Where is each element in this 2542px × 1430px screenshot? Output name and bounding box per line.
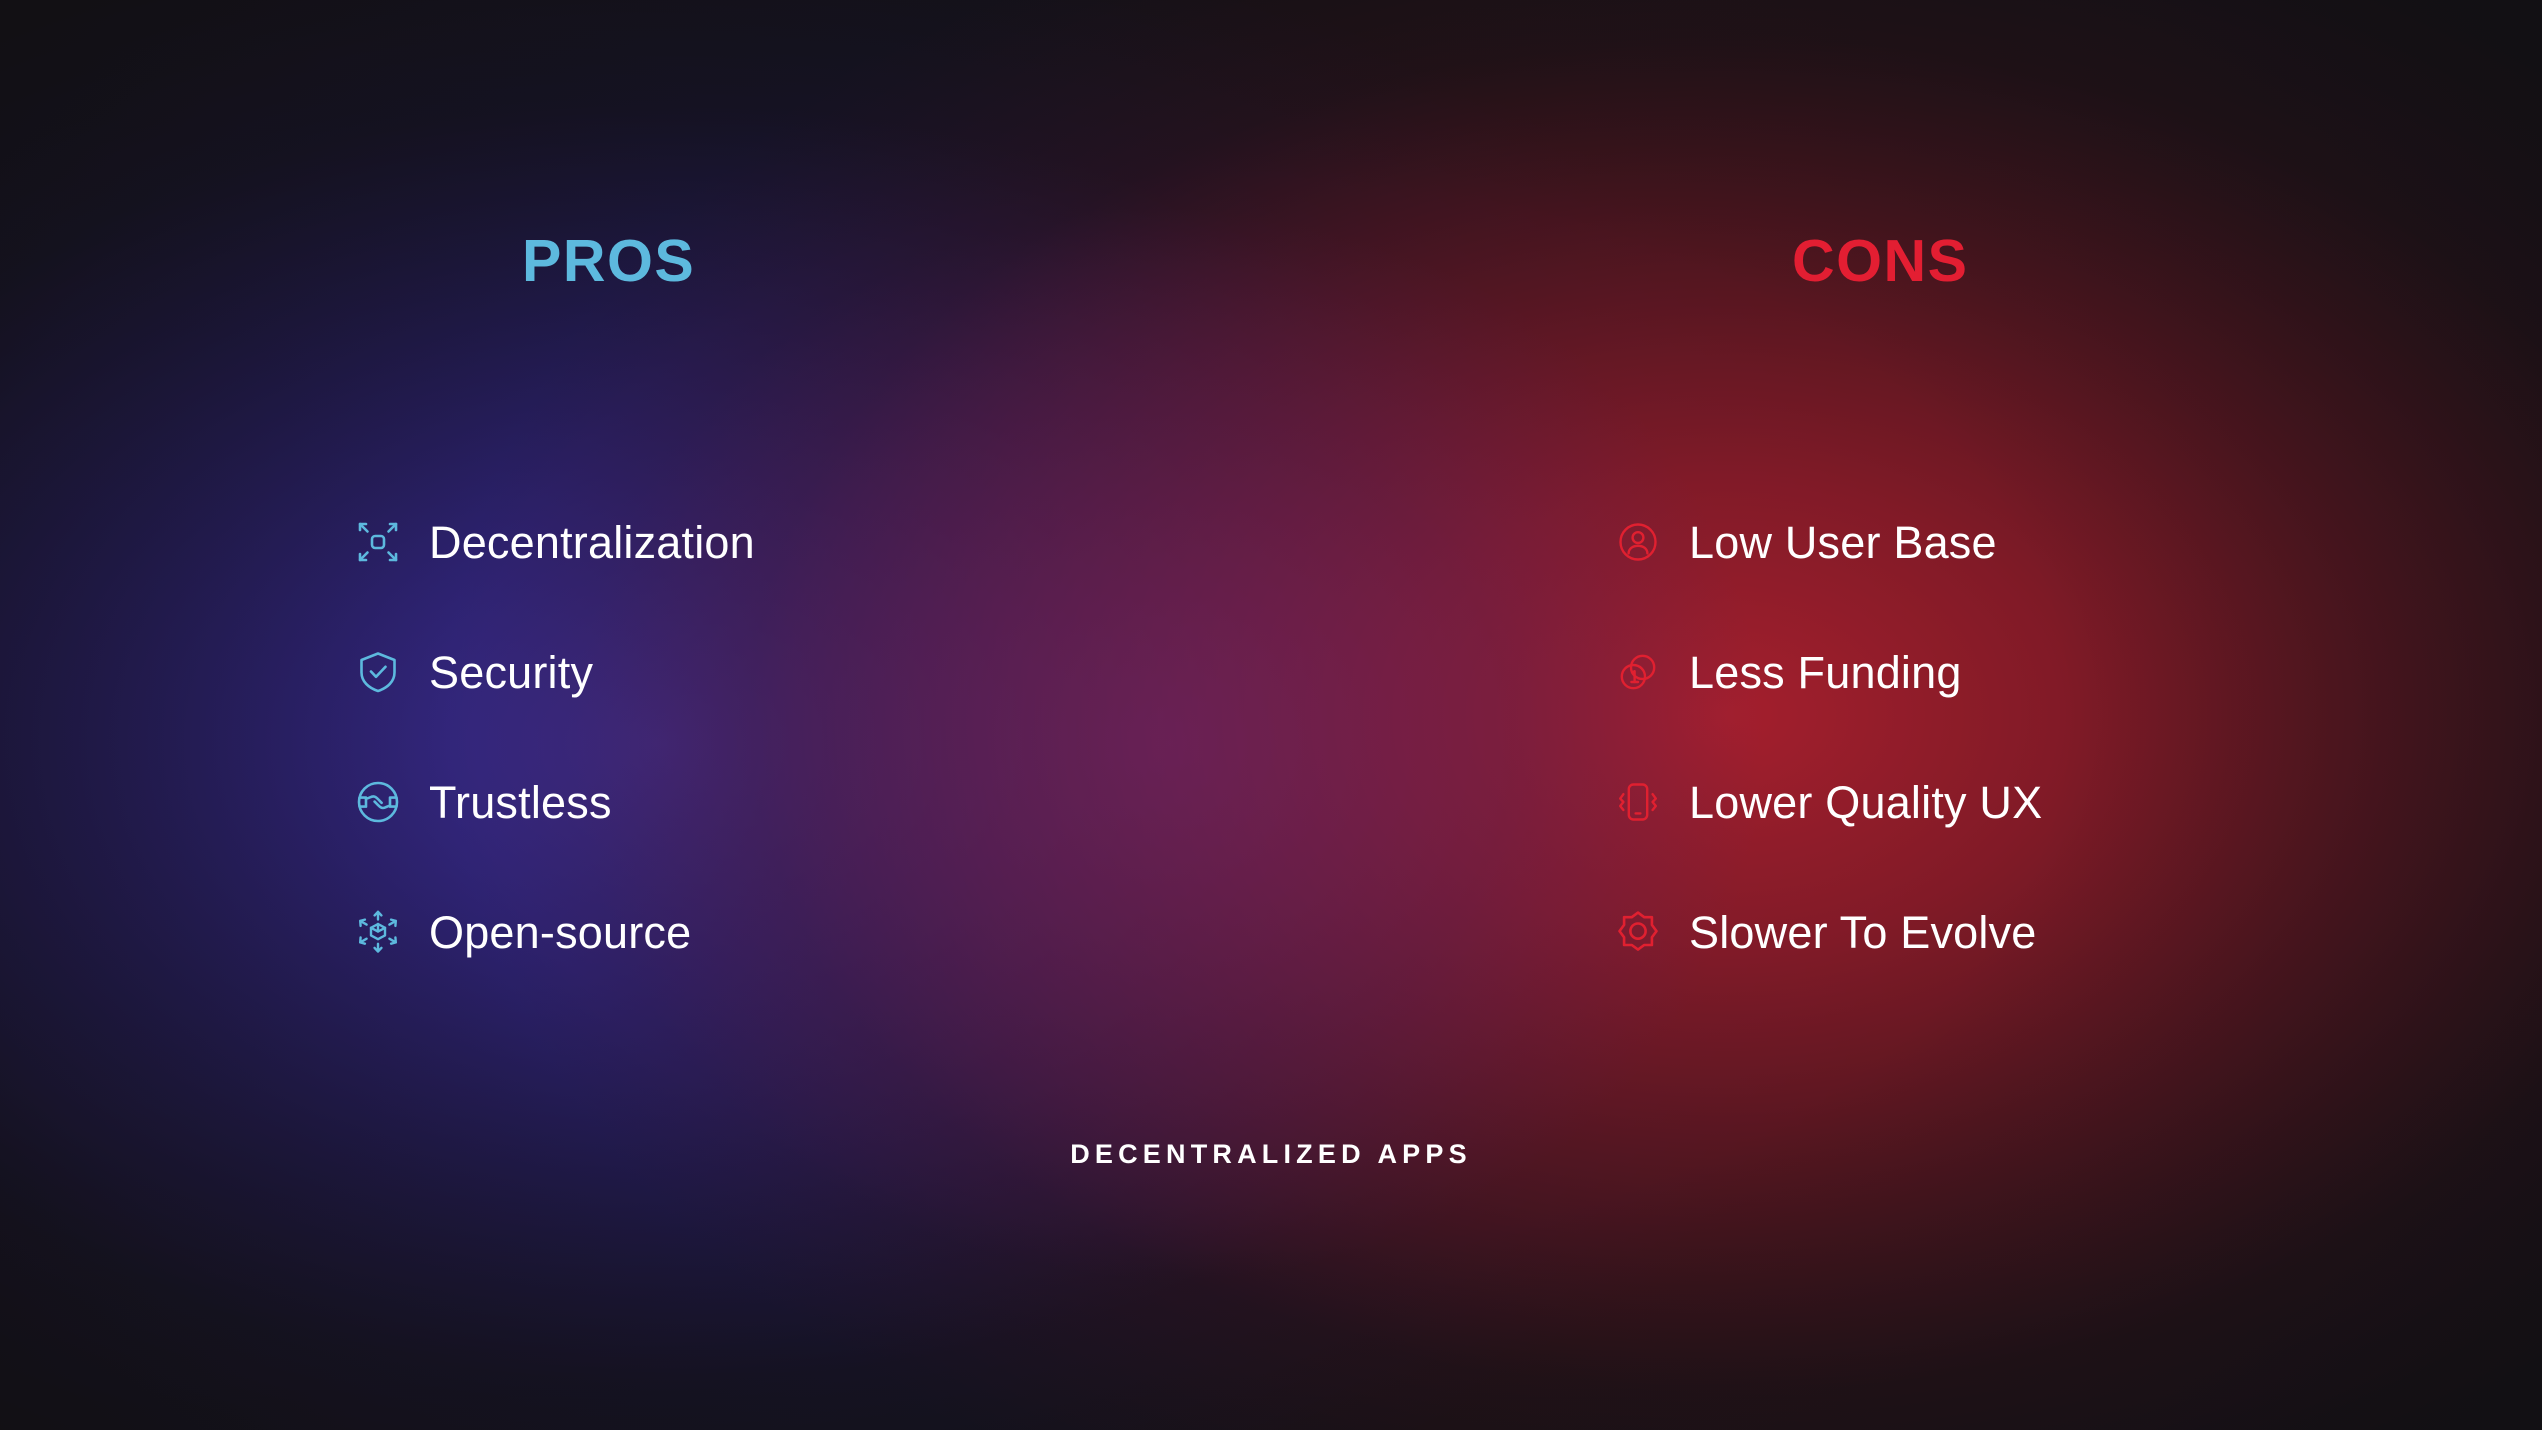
list-item-label: Security [429,650,593,695]
list-item-label: Open-source [429,910,691,955]
user-circle-icon [1615,519,1661,565]
list-item-label: Low User Base [1689,520,1997,565]
handshake-circle-icon [355,779,401,825]
pros-list: Decentralization Security [355,477,755,997]
list-item-label: Slower To Evolve [1689,910,2037,955]
pros-heading: PROS [522,232,695,291]
list-item: Low User Base [1615,477,2042,607]
shield-check-icon [355,649,401,695]
cons-heading: CONS [1792,232,1968,291]
expand-arrows-icon [355,519,401,565]
coins-icon [1615,649,1661,695]
list-item: Lower Quality UX [1615,737,2042,867]
list-item-label: Trustless [429,780,612,825]
footer-caption: DECENTRALIZED APPS [0,1141,2542,1168]
list-item: Security [355,607,755,737]
list-item-label: Lower Quality UX [1689,780,2042,825]
cube-distribute-icon [355,909,401,955]
list-item-label: Less Funding [1689,650,1962,695]
list-item: Decentralization [355,477,755,607]
gear-icon [1615,909,1661,955]
cons-list: Low User Base Less Funding [1615,477,2042,997]
list-item-label: Decentralization [429,520,755,565]
phone-vibrate-icon [1615,779,1661,825]
list-item: Trustless [355,737,755,867]
slide-content: PROS Decentralization [0,0,2542,1430]
list-item: Open-source [355,867,755,997]
list-item: Less Funding [1615,607,2042,737]
list-item: Slower To Evolve [1615,867,2042,997]
